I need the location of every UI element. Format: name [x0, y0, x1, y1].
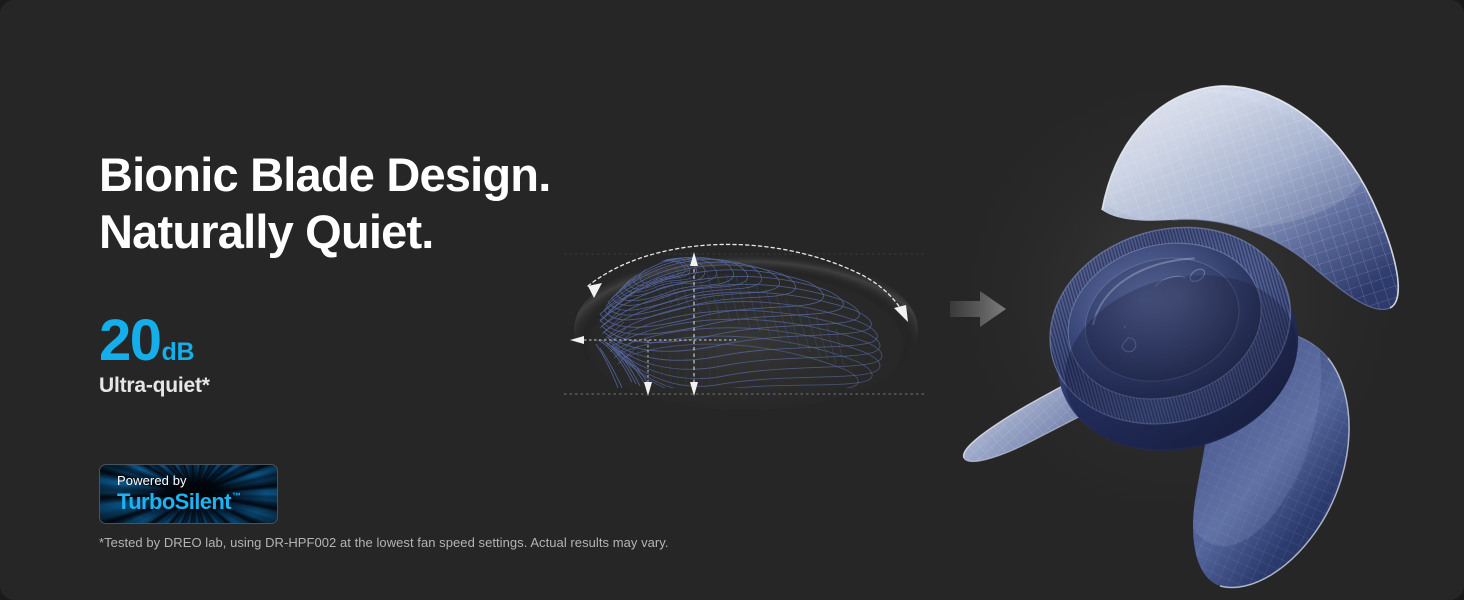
- footnote-text: *Tested by DREO lab, using DR-HPF002 at …: [99, 535, 669, 550]
- metric-unit: dB: [162, 340, 195, 365]
- headline-line-2: Naturally Quiet.: [99, 203, 619, 260]
- promo-banner: Bionic Blade Design. Naturally Quiet. 20…: [0, 0, 1464, 600]
- noise-metric: 20 dB: [99, 313, 619, 368]
- metric-value: 20: [99, 313, 161, 368]
- badge-powered-by-label: Powered by: [117, 474, 241, 489]
- fan-propeller-illustration: [920, 70, 1440, 600]
- trademark-symbol: ™: [232, 492, 241, 501]
- page-title: Bionic Blade Design. Naturally Quiet.: [99, 146, 619, 261]
- metric-caption: Ultra-quiet*: [99, 374, 619, 398]
- copy-block: Bionic Blade Design. Naturally Quiet. 20…: [99, 146, 619, 398]
- headline-line-1: Bionic Blade Design.: [99, 146, 619, 203]
- badge-brand-name: TurboSilent: [117, 491, 231, 513]
- badge-brand-lockup: TurboSilent ™: [117, 491, 241, 513]
- turbosilent-badge: Powered by TurboSilent ™: [99, 464, 278, 524]
- fan-ambient-light: [950, 90, 1410, 550]
- bird-wing-diagram: [560, 226, 932, 412]
- wing-svg: [560, 226, 932, 412]
- fan-svg: [920, 70, 1440, 600]
- badge-text-group: Powered by TurboSilent ™: [117, 474, 241, 513]
